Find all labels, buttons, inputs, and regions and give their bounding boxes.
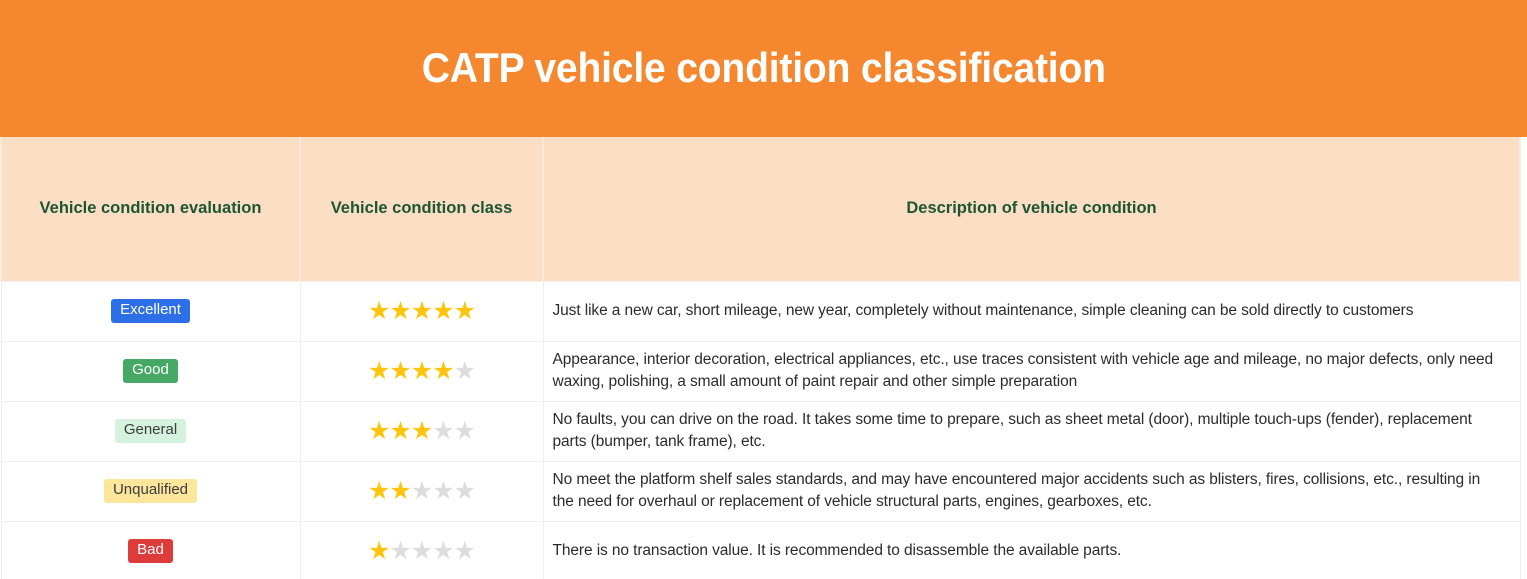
table-header-row: Vehicle condition evaluation Vehicle con… — [1, 137, 1520, 281]
star-filled-icon: ★ — [411, 359, 432, 384]
star-empty-icon: ★ — [432, 539, 453, 564]
star-rating: ★★★★★ — [368, 419, 475, 444]
condition-table: Vehicle condition evaluation Vehicle con… — [0, 137, 1521, 579]
star-filled-icon: ★ — [432, 299, 453, 324]
cell-vehicle-condition-evaluation: General — [1, 401, 300, 461]
title-banner: CATP vehicle condition classification — [0, 0, 1527, 137]
star-filled-icon: ★ — [368, 539, 389, 564]
star-rating: ★★★★★ — [368, 359, 475, 384]
cell-description-of-vehicle-condition: Just like a new car, short mileage, new … — [543, 281, 1520, 341]
star-rating: ★★★★★ — [368, 479, 475, 504]
star-empty-icon: ★ — [454, 359, 475, 384]
star-filled-icon: ★ — [454, 299, 475, 324]
condition-table-container: Vehicle condition evaluation Vehicle con… — [0, 137, 1519, 578]
star-filled-icon: ★ — [432, 359, 453, 384]
status-badge: Unqualified — [104, 479, 197, 503]
column-header-vehicle-condition-class: Vehicle condition class — [300, 137, 543, 281]
star-filled-icon: ★ — [368, 299, 389, 324]
status-badge: Good — [123, 359, 178, 383]
cell-vehicle-condition-class: ★★★★★ — [300, 341, 543, 401]
star-filled-icon: ★ — [368, 479, 389, 504]
cell-description-of-vehicle-condition: Appearance, interior decoration, electri… — [543, 341, 1520, 401]
cell-vehicle-condition-class: ★★★★★ — [300, 521, 543, 579]
star-empty-icon: ★ — [411, 539, 432, 564]
status-badge: Excellent — [111, 299, 190, 323]
star-empty-icon: ★ — [389, 539, 410, 564]
cell-vehicle-condition-class: ★★★★★ — [300, 401, 543, 461]
star-filled-icon: ★ — [411, 419, 432, 444]
star-filled-icon: ★ — [389, 359, 410, 384]
table-row: General★★★★★No faults, you can drive on … — [1, 401, 1520, 461]
status-badge: General — [115, 419, 186, 443]
cell-vehicle-condition-evaluation: Bad — [1, 521, 300, 579]
star-empty-icon: ★ — [432, 419, 453, 444]
cell-vehicle-condition-evaluation: Excellent — [1, 281, 300, 341]
cell-description-of-vehicle-condition: There is no transaction value. It is rec… — [543, 521, 1520, 579]
cell-description-of-vehicle-condition: No faults, you can drive on the road. It… — [543, 401, 1520, 461]
star-empty-icon: ★ — [454, 539, 475, 564]
vehicle-condition-classification-page: CATP vehicle condition classification Ve… — [0, 0, 1527, 579]
table-row: Bad★★★★★There is no transaction value. I… — [1, 521, 1520, 579]
star-filled-icon: ★ — [389, 419, 410, 444]
column-header-vehicle-condition-evaluation: Vehicle condition evaluation — [1, 137, 300, 281]
star-rating: ★★★★★ — [368, 299, 475, 324]
cell-vehicle-condition-class: ★★★★★ — [300, 461, 543, 521]
table-row: Unqualified★★★★★No meet the platform she… — [1, 461, 1520, 521]
star-filled-icon: ★ — [368, 359, 389, 384]
cell-vehicle-condition-evaluation: Good — [1, 341, 300, 401]
cell-description-of-vehicle-condition: No meet the platform shelf sales standar… — [543, 461, 1520, 521]
cell-vehicle-condition-evaluation: Unqualified — [1, 461, 300, 521]
star-empty-icon: ★ — [454, 419, 475, 444]
star-filled-icon: ★ — [389, 299, 410, 324]
cell-vehicle-condition-class: ★★★★★ — [300, 281, 543, 341]
table-row: Good★★★★★Appearance, interior decoration… — [1, 341, 1520, 401]
table-row: Excellent★★★★★Just like a new car, short… — [1, 281, 1520, 341]
star-filled-icon: ★ — [368, 419, 389, 444]
column-header-description-of-vehicle-condition: Description of vehicle condition — [543, 137, 1520, 281]
star-empty-icon: ★ — [411, 479, 432, 504]
page-title: CATP vehicle condition classification — [421, 45, 1105, 91]
star-filled-icon: ★ — [411, 299, 432, 324]
status-badge: Bad — [128, 539, 173, 563]
table-header: Vehicle condition evaluation Vehicle con… — [1, 137, 1520, 281]
star-empty-icon: ★ — [454, 479, 475, 504]
table-body: Excellent★★★★★Just like a new car, short… — [1, 281, 1520, 579]
star-empty-icon: ★ — [432, 479, 453, 504]
star-filled-icon: ★ — [389, 479, 410, 504]
star-rating: ★★★★★ — [368, 539, 475, 564]
